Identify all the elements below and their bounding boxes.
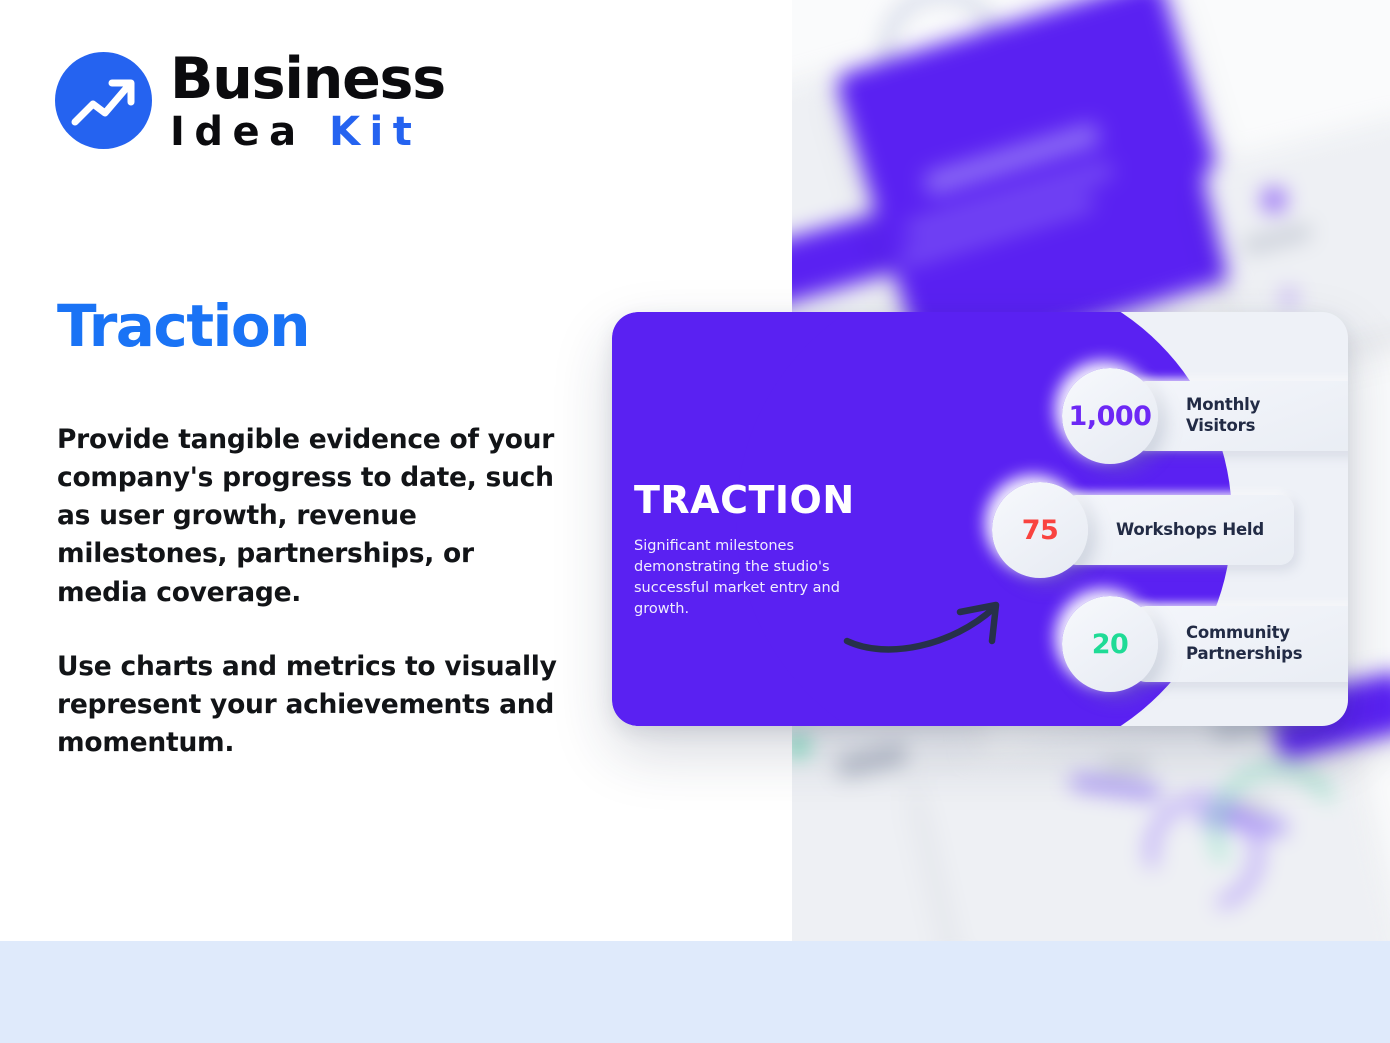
bg-dot-2 <box>1282 290 1296 304</box>
bottom-accent-bar <box>0 941 1390 1043</box>
brand-name-kit: Kit <box>329 109 421 155</box>
metric-label-pill: Workshops Held <box>1062 495 1294 565</box>
page-title: Traction <box>57 296 309 357</box>
metric-value: 20 <box>1092 629 1129 660</box>
metric-value-circle: 1,000 <box>1062 368 1158 464</box>
metric-value: 1,000 <box>1069 401 1152 432</box>
traction-card: TRACTION Significant milestones demonstr… <box>612 312 1348 726</box>
metric-label: Monthly Visitors <box>1186 395 1334 436</box>
metric-label: Community Partnerships <box>1186 623 1302 664</box>
metric-label: Workshops Held <box>1116 520 1264 541</box>
growth-chart-circle-icon <box>55 52 152 149</box>
card-heading: TRACTION <box>634 478 855 522</box>
brand-name-line1: Business <box>170 52 445 108</box>
metric-row: 75 Workshops Held <box>992 482 1294 578</box>
metric-row: 20 Community Partnerships <box>1062 596 1348 692</box>
bg-bar-10 <box>1102 760 1150 772</box>
bg-dot-1 <box>1262 188 1286 212</box>
description-paragraph-2: Use charts and metrics to visually repre… <box>57 648 567 762</box>
metric-row: 1,000 Monthly Visitors <box>1062 368 1348 464</box>
curved-arrow-up-right-icon <box>842 592 1012 658</box>
metric-label-pill: Community Partnerships <box>1132 606 1348 682</box>
metric-label-pill: Monthly Visitors <box>1132 381 1348 451</box>
brand-name-idea: Idea <box>170 109 329 155</box>
brand-name-line2: Idea Kit <box>170 112 445 152</box>
slide-canvas: Business Idea Kit Traction Provide tangi… <box>0 0 1390 1043</box>
description-paragraph-1: Provide tangible evidence of your compan… <box>57 421 567 612</box>
metric-value: 75 <box>1022 515 1059 546</box>
brand-logo: Business Idea Kit <box>55 50 445 152</box>
metric-value-circle: 75 <box>992 482 1088 578</box>
metric-value-circle: 20 <box>1062 596 1158 692</box>
